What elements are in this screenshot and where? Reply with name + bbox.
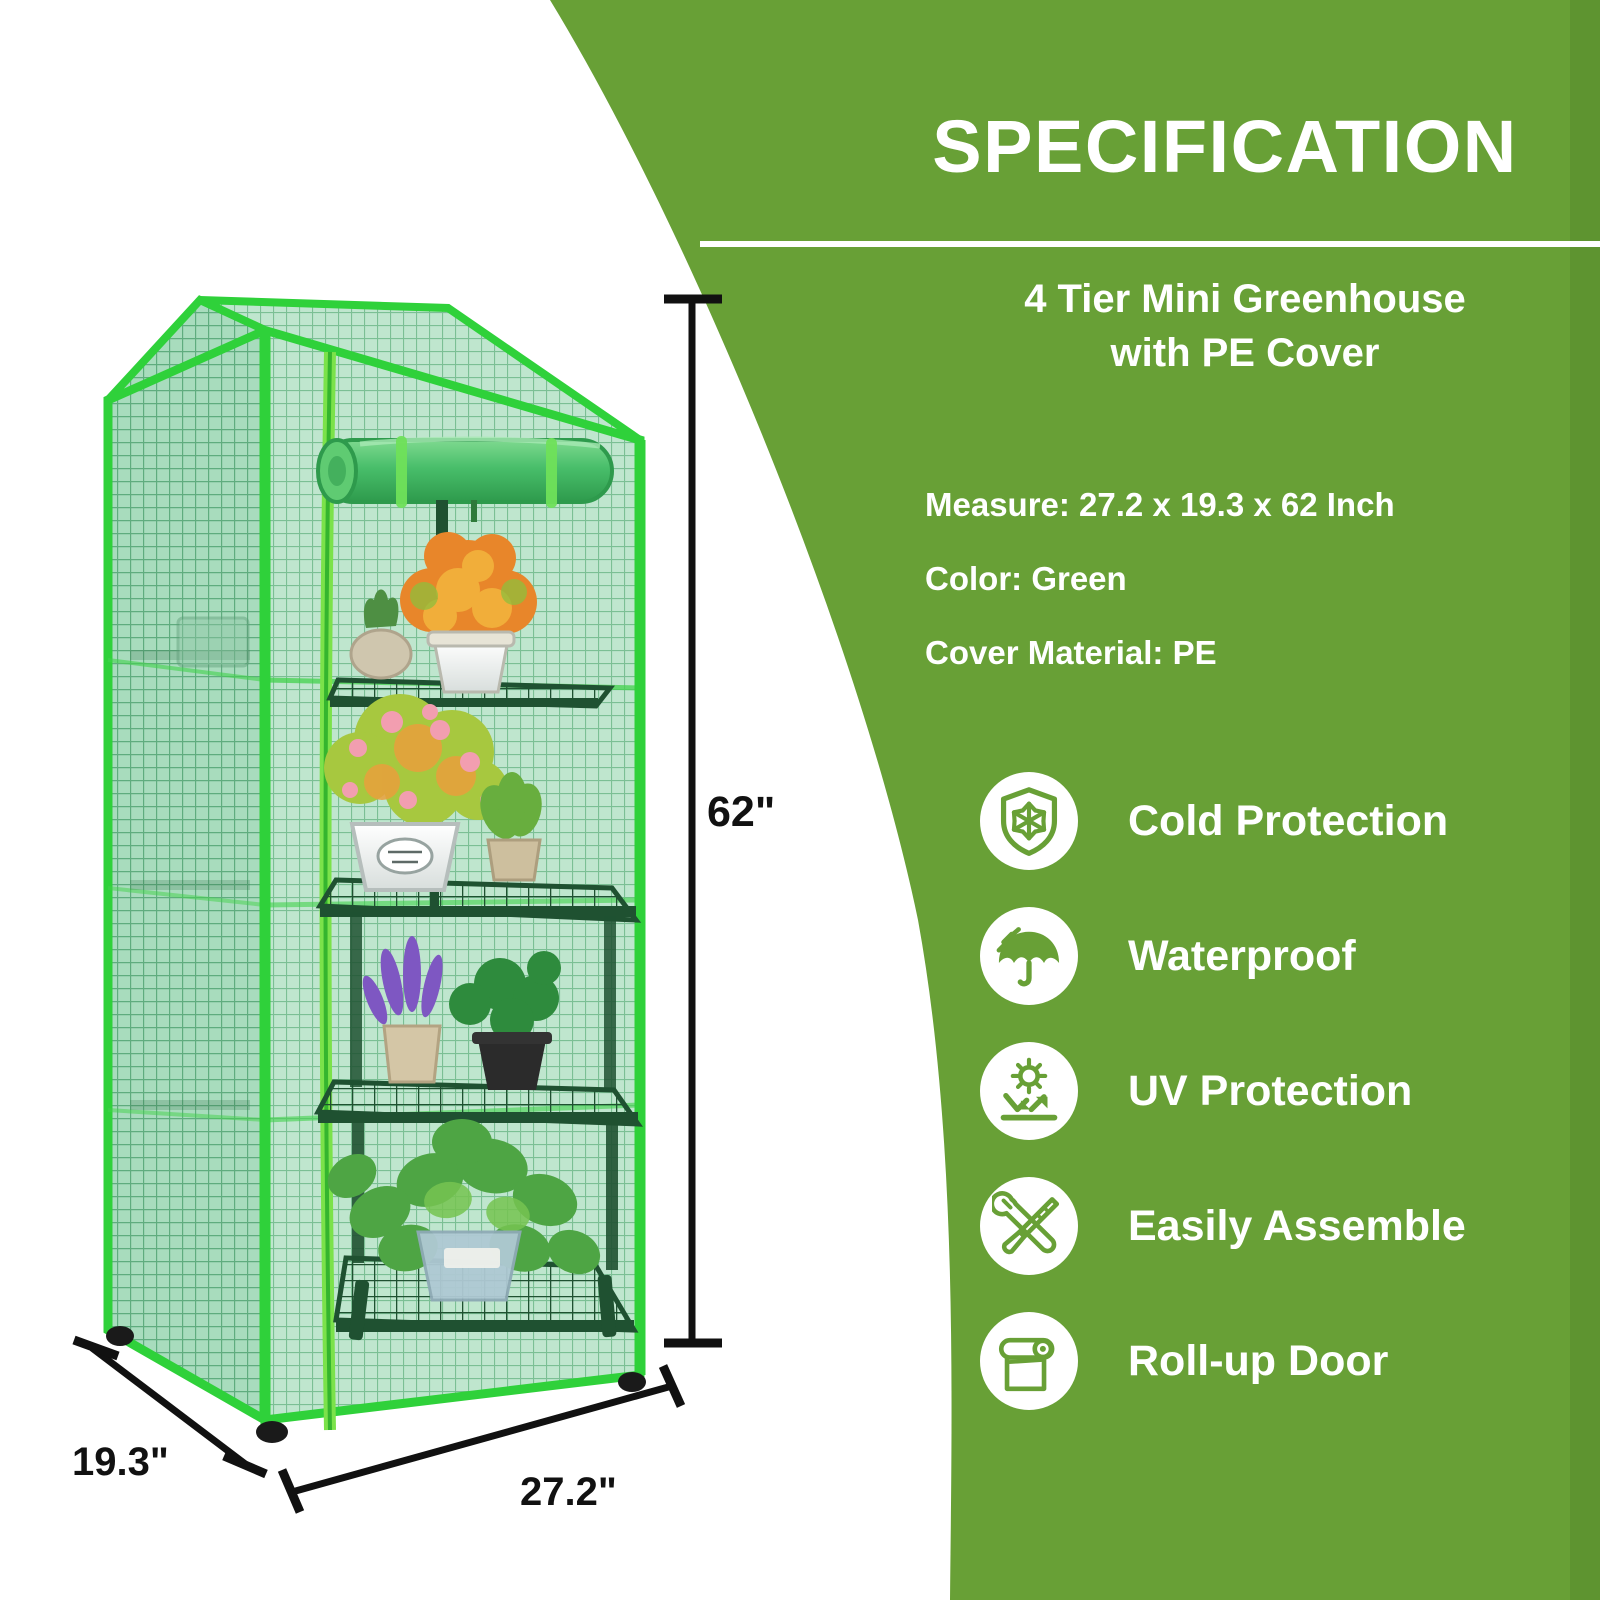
spec-measure: Measure: 27.2 x 19.3 x 62 Inch <box>925 488 1585 521</box>
spec-color: Color: Green <box>925 562 1585 595</box>
feature-uv-protection: UV Protection <box>980 1032 1600 1150</box>
feature-label: UV Protection <box>1128 1070 1412 1113</box>
dimension-width-label: 27.2" <box>520 1470 617 1515</box>
feature-label: Easily Assemble <box>1128 1205 1466 1248</box>
roll-up-curtain-icon <box>980 1312 1078 1410</box>
spec-list: Measure: 27.2 x 19.3 x 62 Inch Color: Gr… <box>925 488 1585 710</box>
feature-waterproof: Waterproof <box>980 897 1600 1015</box>
feature-cold-protection: Cold Protection <box>980 762 1600 880</box>
dimension-height-label: 62" <box>707 788 775 837</box>
feature-roll-up-door: Roll-up Door <box>980 1302 1600 1420</box>
umbrella-icon <box>980 907 1078 1005</box>
feature-label: Waterproof <box>1128 935 1356 978</box>
feature-easily-assemble: Easily Assemble <box>980 1167 1600 1285</box>
specification-column: SPECIFICATION 4 Tier Mini Greenhouse wit… <box>880 0 1600 1600</box>
feature-label: Cold Protection <box>1128 800 1448 843</box>
product-name: 4 Tier Mini Greenhouse with PE Cover <box>920 272 1570 380</box>
wrench-screwdriver-icon <box>980 1177 1078 1275</box>
snowflake-shield-icon <box>980 772 1078 870</box>
product-name-line-2: with PE Cover <box>920 326 1570 380</box>
page-title: SPECIFICATION <box>880 110 1570 184</box>
spec-infographic: 62" 27.2" 19.3" SPECIFICATION 4 Tier Min… <box>0 0 1600 1600</box>
spec-cover-material: Cover Material: PE <box>925 636 1585 669</box>
sun-uv-icon <box>980 1042 1078 1140</box>
dimension-depth-label: 19.3" <box>72 1440 169 1485</box>
feature-label: Roll-up Door <box>1128 1340 1388 1383</box>
feature-list: Cold Protection Waterproof <box>980 762 1600 1437</box>
product-name-line-1: 4 Tier Mini Greenhouse <box>920 272 1570 326</box>
title-divider <box>700 241 1600 247</box>
